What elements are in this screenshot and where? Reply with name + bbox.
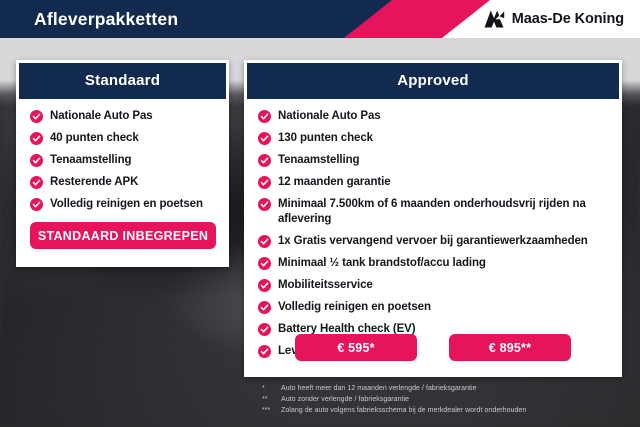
list-item-label: Tenaamstelling <box>278 153 359 168</box>
list-item: Minimaal ½ tank brandstof/accu lading <box>258 256 622 271</box>
check-circle-icon <box>30 132 43 145</box>
footnote-single-asterisk: * Auto heeft meer dan 12 maanden verleng… <box>262 383 630 394</box>
list-item-label: Minimaal ½ tank brandstof/accu lading <box>278 256 486 271</box>
footnote-text: Zolang de auto volgens fabrieksschema bi… <box>281 405 526 416</box>
footnote-text: Auto heeft meer dan 12 maanden verlengde… <box>281 383 477 394</box>
header-bar: Afleverpakketten Maas-De Koning <box>0 0 640 38</box>
card-approved-feature-list: Nationale Auto Pas 130 punten check Tena… <box>258 99 622 359</box>
check-circle-icon <box>258 132 271 145</box>
check-circle-icon <box>258 279 271 292</box>
list-item: 12 maanden garantie <box>258 175 622 190</box>
list-item-label: Volledig reinigen en poetsen <box>50 197 203 212</box>
list-item: Volledig reinigen en poetsen <box>258 300 622 315</box>
list-item: Volledig reinigen en poetsen <box>30 197 229 212</box>
list-item-label: Nationale Auto Pas <box>50 109 153 124</box>
card-standaard-feature-list: Nationale Auto Pas 40 punten check Tenaa… <box>30 99 229 212</box>
list-item: Resterende APK <box>30 175 229 190</box>
brand-name: Maas-De Koning <box>512 11 624 27</box>
check-circle-icon <box>258 154 271 167</box>
card-standaard: Standaard Nationale Auto Pas 40 punten c… <box>16 60 229 267</box>
list-item: 130 punten check <box>258 131 622 146</box>
footnote-triple-asterisk: *** Zolang de auto volgens fabrieksschem… <box>262 405 630 416</box>
maas-de-koning-m-logo-icon <box>483 9 505 29</box>
list-item: Nationale Auto Pas <box>258 109 622 124</box>
list-item: Minimaal 7.500km of 6 maanden onderhouds… <box>258 197 622 227</box>
list-item: Nationale Auto Pas <box>30 109 229 124</box>
footnote-marker: * <box>262 383 276 394</box>
check-circle-icon <box>258 301 271 314</box>
check-circle-icon <box>258 235 271 248</box>
afleverpakketten-slide: Afleverpakketten Maas-De Koning Standaar… <box>0 0 640 427</box>
list-item-label: 40 punten check <box>50 131 139 146</box>
check-circle-icon <box>258 257 271 270</box>
page-title: Afleverpakketten <box>34 0 178 38</box>
footnote-text: Auto zonder verlengde / fabrieksgarantie <box>281 394 409 405</box>
check-circle-icon <box>258 110 271 123</box>
check-circle-icon <box>30 198 43 211</box>
list-item-label: Minimaal 7.500km of 6 maanden onderhouds… <box>278 197 608 227</box>
check-circle-icon <box>30 110 43 123</box>
standaard-inbegrepen-button[interactable]: STANDAARD INBEGREPEN <box>30 222 216 249</box>
card-standaard-title: Standaard <box>19 63 226 99</box>
price-button-row: € 595* € 895** <box>244 334 622 361</box>
check-circle-icon <box>258 198 271 211</box>
footnote-marker: ** <box>262 394 276 405</box>
list-item: Tenaamstelling <box>258 153 622 168</box>
footnotes: * Auto heeft meer dan 12 maanden verleng… <box>262 383 630 416</box>
list-item-label: Nationale Auto Pas <box>278 109 381 124</box>
list-item-label: 1x Gratis vervangend vervoer bij garanti… <box>278 234 588 249</box>
list-item-label: Mobiliteitsservice <box>278 278 373 293</box>
list-item: Tenaamstelling <box>30 153 229 168</box>
card-approved-title: Approved <box>247 63 619 99</box>
check-circle-icon <box>258 176 271 189</box>
card-approved: Approved Nationale Auto Pas 130 punten c… <box>244 60 622 377</box>
check-circle-icon <box>30 176 43 189</box>
footnote-double-asterisk: ** Auto zonder verlengde / fabrieksgaran… <box>262 394 630 405</box>
list-item: 1x Gratis vervangend vervoer bij garanti… <box>258 234 622 249</box>
list-item: 40 punten check <box>30 131 229 146</box>
check-circle-icon <box>30 154 43 167</box>
footnote-marker: *** <box>262 405 276 416</box>
price-button-895[interactable]: € 895** <box>449 334 571 361</box>
list-item-label: 12 maanden garantie <box>278 175 391 190</box>
list-item-label: Volledig reinigen en poetsen <box>278 300 431 315</box>
list-item: Mobiliteitsservice <box>258 278 622 293</box>
price-button-595[interactable]: € 595* <box>295 334 417 361</box>
list-item-label: Tenaamstelling <box>50 153 131 168</box>
list-item-label: 130 punten check <box>278 131 373 146</box>
brand-logo: Maas-De Koning <box>483 0 624 38</box>
list-item-label: Resterende APK <box>50 175 138 190</box>
